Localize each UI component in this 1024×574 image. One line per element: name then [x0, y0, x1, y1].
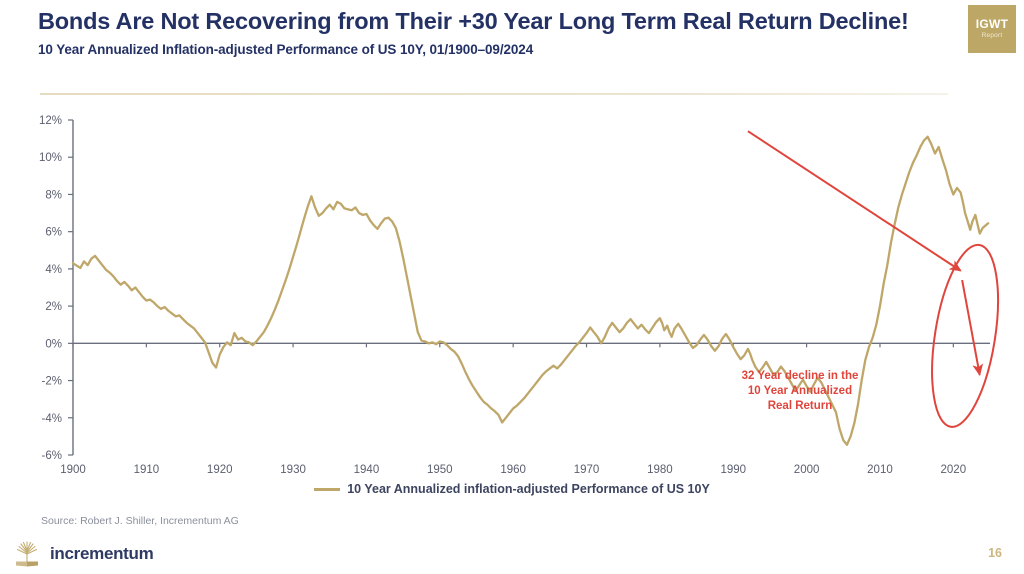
line-chart: 12%10%8%6%4%2%0%-2%-4%-6% 19001910192019… [0, 100, 1024, 500]
x-tick-label: 1980 [647, 464, 673, 476]
chart-legend: 10 Year Annualized inflation-adjusted Pe… [0, 482, 1024, 496]
x-tick-label: 1960 [500, 464, 526, 476]
chart-container: 12%10%8%6%4%2%0%-2%-4%-6% 19001910192019… [0, 100, 1024, 500]
y-tick-label: 2% [45, 301, 62, 313]
annotation-text-line-1: 32 Year decline in the [742, 370, 859, 382]
igwt-report-badge: IGWT Report [968, 5, 1016, 53]
x-tick-label: 1950 [427, 464, 453, 476]
y-tick-label: -4% [42, 413, 62, 425]
igwt-badge-title: IGWT [976, 18, 1009, 30]
x-tick-label: 1920 [207, 464, 233, 476]
x-tick-label: 1910 [134, 464, 160, 476]
y-tick-label: -6% [42, 450, 62, 462]
y-tick-label: 10% [39, 152, 62, 164]
x-tick-label: 1900 [60, 464, 86, 476]
annotation-text-line-2: 10 Year Annualized [748, 385, 852, 397]
x-tick-label: 1930 [280, 464, 306, 476]
chart-annotations: 32 Year decline in the 10 Year Annualize… [742, 131, 1009, 431]
x-tick-label: 1940 [354, 464, 380, 476]
annotation-text-line-3: Real Return [768, 400, 833, 412]
legend-label: 10 Year Annualized inflation-adjusted Pe… [347, 482, 710, 496]
y-axis-ticks: 12%10%8%6%4%2%0%-2%-4%-6% [39, 115, 73, 462]
header-divider [40, 93, 948, 95]
decline-arrow-icon [748, 131, 961, 271]
series-line-us10y [73, 137, 988, 445]
source-note: Source: Robert J. Shiller, Incrementum A… [41, 515, 239, 527]
x-tick-label: 1970 [574, 464, 600, 476]
x-tick-label: 2010 [867, 464, 893, 476]
x-tick-label: 2000 [794, 464, 820, 476]
y-tick-label: 4% [45, 264, 62, 276]
x-tick-label: 2020 [941, 464, 967, 476]
page-title: Bonds Are Not Recovering from Their +30 … [38, 8, 948, 35]
tree-logo-icon [10, 536, 44, 570]
recent-drop-arrow-icon [962, 280, 980, 375]
y-tick-label: -2% [42, 376, 62, 388]
legend-color-swatch [314, 488, 340, 491]
y-tick-label: 12% [39, 115, 62, 127]
footer: incrementum 16 [0, 532, 1024, 574]
x-tick-label: 1990 [720, 464, 746, 476]
highlight-ellipse-icon [921, 240, 1009, 431]
y-tick-label: 6% [45, 227, 62, 239]
y-tick-label: 0% [45, 338, 62, 350]
page-subtitle: 10 Year Annualized Inflation-adjusted Pe… [38, 42, 948, 57]
y-tick-label: 8% [45, 189, 62, 201]
igwt-badge-subtitle: Report [982, 33, 1003, 40]
page-number: 16 [988, 546, 1002, 560]
header: Bonds Are Not Recovering from Their +30 … [38, 8, 948, 57]
footer-brand-name: incrementum [50, 544, 153, 564]
